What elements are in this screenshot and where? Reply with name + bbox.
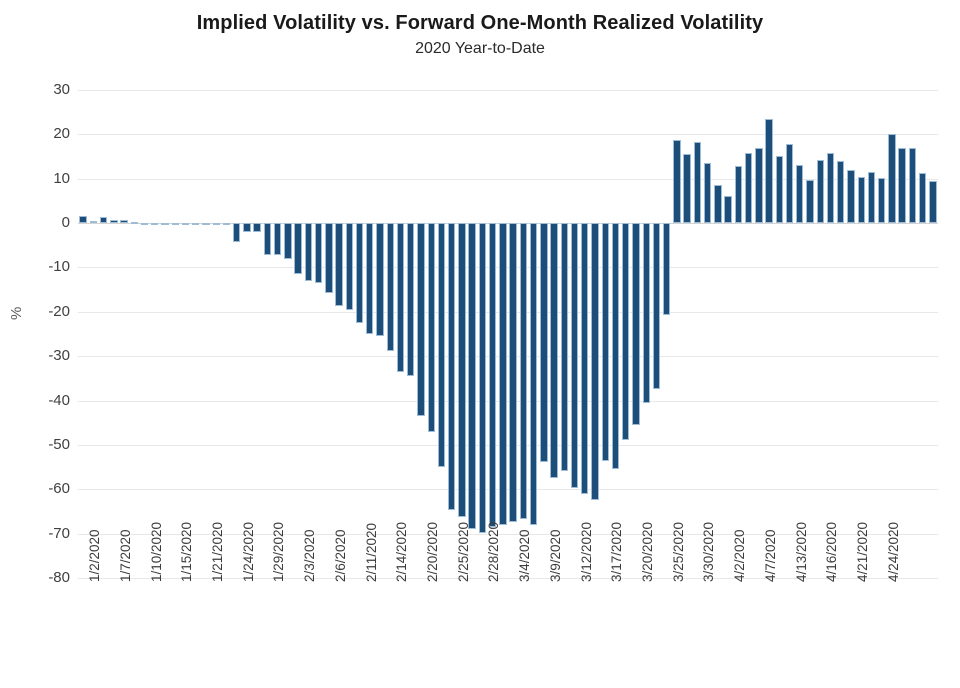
bar (643, 223, 650, 403)
bar (346, 223, 353, 310)
x-tick-label: 2/3/2020 (303, 529, 317, 582)
x-tick-label: 1/15/2020 (180, 522, 194, 582)
x-tick-label: 3/12/2020 (580, 522, 594, 582)
bar (673, 140, 680, 223)
bar (745, 153, 752, 223)
bar-series (78, 90, 938, 578)
bar (294, 223, 301, 274)
x-tick-label: 1/10/2020 (150, 522, 164, 582)
y-tick-label: 10 (10, 171, 70, 186)
bar (387, 223, 394, 351)
bar (591, 223, 598, 500)
bar (100, 217, 107, 223)
y-axis-tick-labels: 3020100-10-20-30-40-50-60-70-80 (0, 90, 70, 578)
bar (366, 223, 373, 334)
bar (253, 223, 260, 232)
bar (540, 223, 547, 462)
bar (786, 144, 793, 223)
bar (499, 223, 506, 525)
bar (397, 223, 404, 372)
gridline--80 (78, 578, 938, 579)
bar (581, 223, 588, 494)
x-tick-label: 4/7/2020 (764, 529, 778, 582)
bar (264, 223, 271, 254)
bar (683, 154, 690, 223)
bar (929, 181, 936, 224)
y-tick-label: -60 (10, 481, 70, 496)
bar (223, 223, 230, 225)
bar (509, 223, 516, 522)
bar (868, 172, 875, 223)
x-tick-label: 3/25/2020 (672, 522, 686, 582)
bar (141, 223, 148, 225)
bar (602, 223, 609, 461)
bar (479, 223, 486, 533)
bar (131, 222, 138, 224)
bar (909, 148, 916, 223)
bar (837, 161, 844, 223)
bar (305, 223, 312, 281)
bar (315, 223, 322, 282)
x-tick-label: 2/25/2020 (457, 522, 471, 582)
x-tick-label: 4/16/2020 (825, 522, 839, 582)
bar (550, 223, 557, 478)
bar (192, 223, 199, 225)
x-tick-label: 2/14/2020 (395, 522, 409, 582)
bar (878, 178, 885, 223)
x-tick-label: 2/28/2020 (487, 522, 501, 582)
bar (274, 223, 281, 255)
bar (827, 153, 834, 223)
x-tick-label: 2/11/2020 (365, 523, 379, 582)
bar (704, 163, 711, 223)
y-tick-label: -30 (10, 348, 70, 363)
y-tick-label: 20 (10, 126, 70, 141)
bar (172, 223, 179, 225)
bar (458, 223, 465, 517)
bar (817, 160, 824, 223)
bar (110, 220, 117, 223)
y-tick-label: -70 (10, 526, 70, 541)
bar (120, 220, 127, 223)
chart-subtitle: 2020 Year-to-Date (0, 38, 960, 60)
x-tick-label: 1/29/2020 (272, 522, 286, 582)
bar (233, 223, 240, 242)
bar (151, 223, 158, 225)
bar (898, 148, 905, 223)
x-tick-label: 3/17/2020 (610, 522, 624, 582)
bar (90, 221, 97, 223)
bar (468, 223, 475, 529)
bar (714, 185, 721, 223)
bar (663, 223, 670, 315)
bar (438, 223, 445, 467)
bar (335, 223, 342, 306)
bar (755, 148, 762, 223)
bar (79, 216, 86, 223)
bar (735, 166, 742, 223)
bar (612, 223, 619, 469)
bar (376, 223, 383, 336)
y-tick-label: -50 (10, 437, 70, 452)
bar (724, 196, 731, 223)
bar (622, 223, 629, 440)
bar (806, 180, 813, 223)
bar (417, 223, 424, 416)
bar (765, 119, 772, 223)
bar (213, 223, 220, 225)
title-block: Implied Volatility vs. Forward One-Month… (0, 10, 960, 60)
x-tick-label: 3/4/2020 (518, 529, 532, 582)
chart-page: Implied Volatility vs. Forward One-Month… (0, 0, 960, 688)
x-tick-label: 3/9/2020 (549, 529, 563, 582)
bar (776, 156, 783, 223)
bar (284, 223, 291, 259)
bar (407, 223, 414, 376)
y-tick-label: 0 (10, 215, 70, 230)
bar (858, 177, 865, 223)
bar (356, 223, 363, 323)
bar (530, 223, 537, 525)
y-tick-label: -80 (10, 570, 70, 585)
bar (182, 223, 189, 225)
x-tick-label: 1/7/2020 (119, 529, 133, 582)
x-tick-label: 4/21/2020 (856, 522, 870, 582)
bar (694, 142, 701, 223)
bar (325, 223, 332, 293)
bar (571, 223, 578, 488)
bar (161, 223, 168, 225)
x-tick-label: 3/20/2020 (641, 522, 655, 582)
x-tick-label: 4/24/2020 (887, 522, 901, 582)
bar (653, 223, 660, 389)
bar (428, 223, 435, 432)
plot-area (78, 90, 938, 578)
bar (632, 223, 639, 425)
x-tick-label: 2/20/2020 (426, 522, 440, 582)
bar (243, 223, 250, 231)
chart-title: Implied Volatility vs. Forward One-Month… (0, 10, 960, 36)
x-axis-tick-labels: 1/2/20201/7/20201/10/20201/15/20201/21/2… (78, 582, 958, 688)
y-tick-label: -10 (10, 259, 70, 274)
bar (520, 223, 527, 518)
x-tick-label: 2/6/2020 (334, 529, 348, 582)
x-tick-label: 1/2/2020 (88, 529, 102, 582)
bar (448, 223, 455, 510)
bar (489, 223, 496, 527)
bar (847, 170, 854, 223)
bar (796, 165, 803, 223)
y-tick-label: -40 (10, 393, 70, 408)
y-tick-label: -20 (10, 304, 70, 319)
x-tick-label: 1/24/2020 (242, 522, 256, 582)
y-tick-label: 30 (10, 82, 70, 97)
x-tick-label: 4/2/2020 (733, 529, 747, 582)
bar (888, 134, 895, 223)
x-tick-label: 4/13/2020 (795, 522, 809, 582)
bar (561, 223, 568, 471)
bar (919, 173, 926, 223)
x-tick-label: 3/30/2020 (702, 522, 716, 582)
x-tick-label: 1/21/2020 (211, 522, 225, 582)
bar (202, 223, 209, 225)
